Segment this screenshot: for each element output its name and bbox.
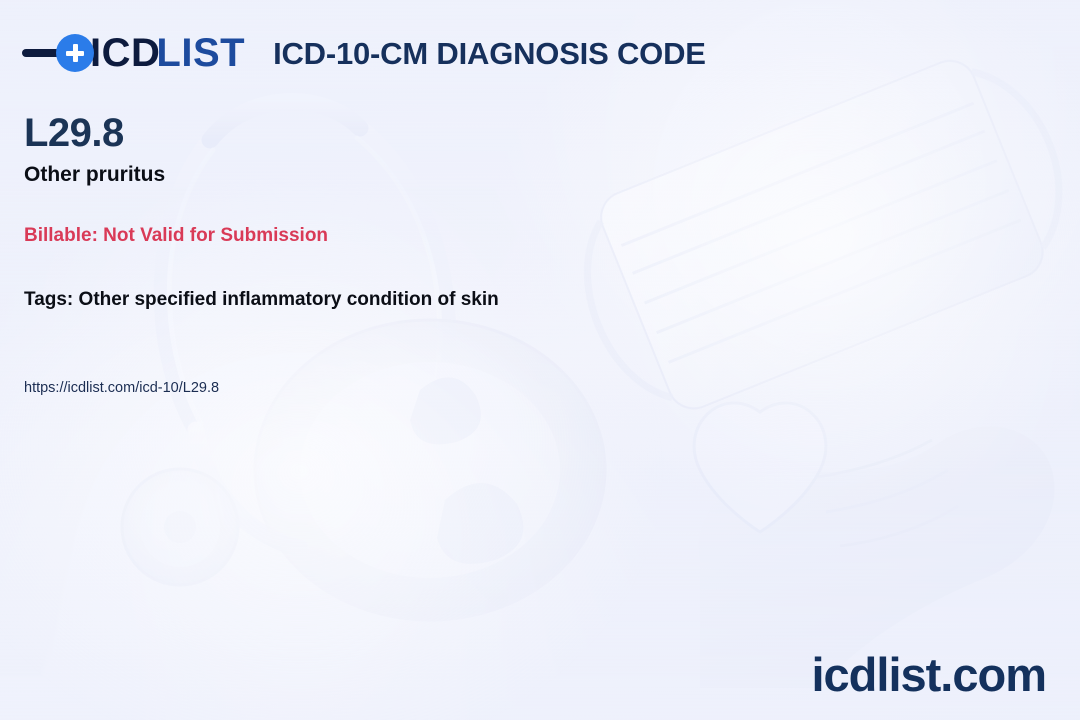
plus-circle-icon: [56, 34, 94, 72]
code-details: L29.8 Other pruritus Billable: Not Valid…: [24, 112, 724, 397]
logo-word-icd: ICD: [90, 33, 160, 73]
icdlist-logo[interactable]: ICD LIST: [22, 30, 245, 76]
page-header: ICD LIST ICD-10-CM DIAGNOSIS CODE: [22, 22, 1058, 84]
brand-footer: icdlist.com: [811, 651, 1046, 698]
hand-heart-art: [694, 403, 1054, 688]
diagnosis-description: Other pruritus: [24, 162, 724, 187]
stethoscope-eartips-art: [410, 377, 523, 564]
diagnosis-code: L29.8: [24, 112, 724, 154]
source-url[interactable]: https://icdlist.com/icd-10/L29.8: [24, 380, 724, 397]
logo-word-list: LIST: [156, 33, 245, 73]
tags-line: Tags: Other specified inflammatory condi…: [24, 289, 724, 312]
billable-status-badge: Billable: Not Valid for Submission: [24, 225, 724, 248]
poster-canvas: ICD LIST ICD-10-CM DIAGNOSIS CODE L29.8 …: [0, 0, 1080, 720]
stethoscope-chestpiece-art: [122, 469, 238, 585]
page-title: ICD-10-CM DIAGNOSIS CODE: [273, 38, 706, 69]
